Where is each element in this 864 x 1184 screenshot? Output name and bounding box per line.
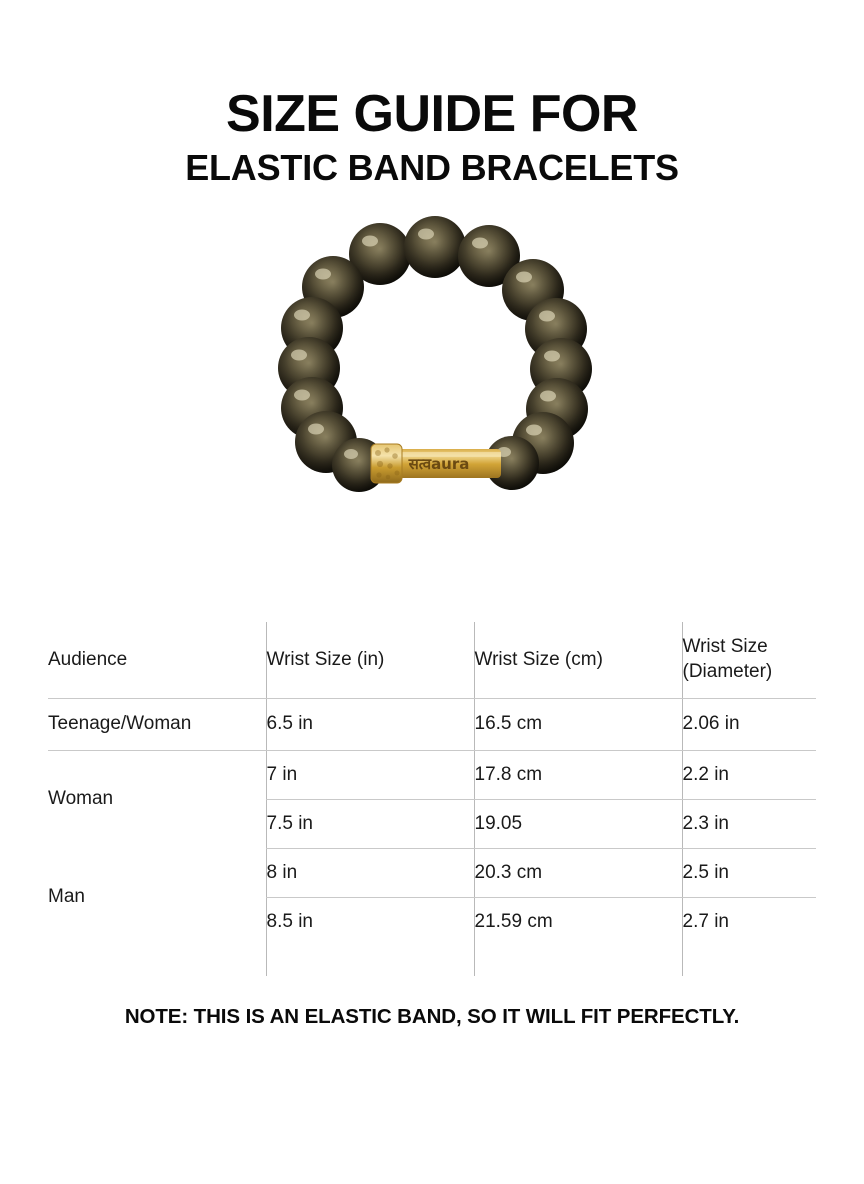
wrist-diameter-cell: 2.5 in — [682, 848, 816, 897]
wrist-diameter-cell: 2.2 in — [682, 750, 816, 799]
header-wrist-in: Wrist Size (in) — [266, 622, 474, 698]
wrist-diameter-cell: 2.06 in — [682, 698, 816, 750]
audience-cell: Woman — [48, 750, 266, 848]
tail-cell — [48, 946, 266, 976]
size-table: Audience Wrist Size (in) Wrist Size (cm)… — [48, 622, 816, 976]
clasp: सत्वaura — [371, 444, 501, 483]
header-wrist-cm: Wrist Size (cm) — [474, 622, 682, 698]
wrist-in-cell: 7 in — [266, 750, 474, 799]
table-header-row: Audience Wrist Size (in) Wrist Size (cm)… — [48, 622, 816, 698]
header-wrist-diameter: Wrist Size (Diameter) — [682, 622, 816, 698]
table-row: Teenage/Woman 6.5 in 16.5 cm 2.06 in — [48, 698, 816, 750]
product-photo-area: सत्वaura — [0, 211, 864, 531]
clasp-engraving-text: सत्वaura — [408, 455, 470, 473]
bead — [404, 216, 466, 278]
header-diameter-line-2: (Diameter) — [683, 660, 817, 684]
page-title: SIZE GUIDE FOR ELASTIC BAND BRACELETS — [0, 0, 864, 187]
wrist-diameter-cell: 2.7 in — [682, 897, 816, 946]
header-diameter-line-1: Wrist Size — [683, 635, 817, 659]
footer-note: NOTE: THIS IS AN ELASTIC BAND, SO IT WIL… — [0, 1005, 864, 1029]
table-row: Man 8 in 20.3 cm 2.5 in — [48, 848, 816, 897]
audience-cell: Man — [48, 848, 266, 946]
bracelet-image: सत्वaura — [267, 211, 597, 511]
title-line-1: SIZE GUIDE FOR — [0, 88, 864, 140]
table-row: Woman 7 in 17.8 cm 2.2 in — [48, 750, 816, 799]
wrist-cm-cell: 16.5 cm — [474, 698, 682, 750]
wrist-cm-cell: 19.05 — [474, 799, 682, 848]
wrist-in-cell: 6.5 in — [266, 698, 474, 750]
wrist-cm-cell: 21.59 cm — [474, 897, 682, 946]
wrist-cm-cell: 17.8 cm — [474, 750, 682, 799]
wrist-in-cell: 7.5 in — [266, 799, 474, 848]
title-line-2: ELASTIC BAND BRACELETS — [0, 149, 864, 187]
wrist-cm-cell: 20.3 cm — [474, 848, 682, 897]
wrist-diameter-cell: 2.3 in — [682, 799, 816, 848]
audience-cell: Teenage/Woman — [48, 698, 266, 750]
tail-cell — [266, 946, 474, 976]
wrist-in-cell: 8.5 in — [266, 897, 474, 946]
size-table-container: Audience Wrist Size (in) Wrist Size (cm)… — [48, 622, 816, 976]
header-audience: Audience — [48, 622, 266, 698]
tail-cell — [682, 946, 816, 976]
tail-cell — [474, 946, 682, 976]
table-tail — [48, 946, 816, 976]
wrist-in-cell: 8 in — [266, 848, 474, 897]
